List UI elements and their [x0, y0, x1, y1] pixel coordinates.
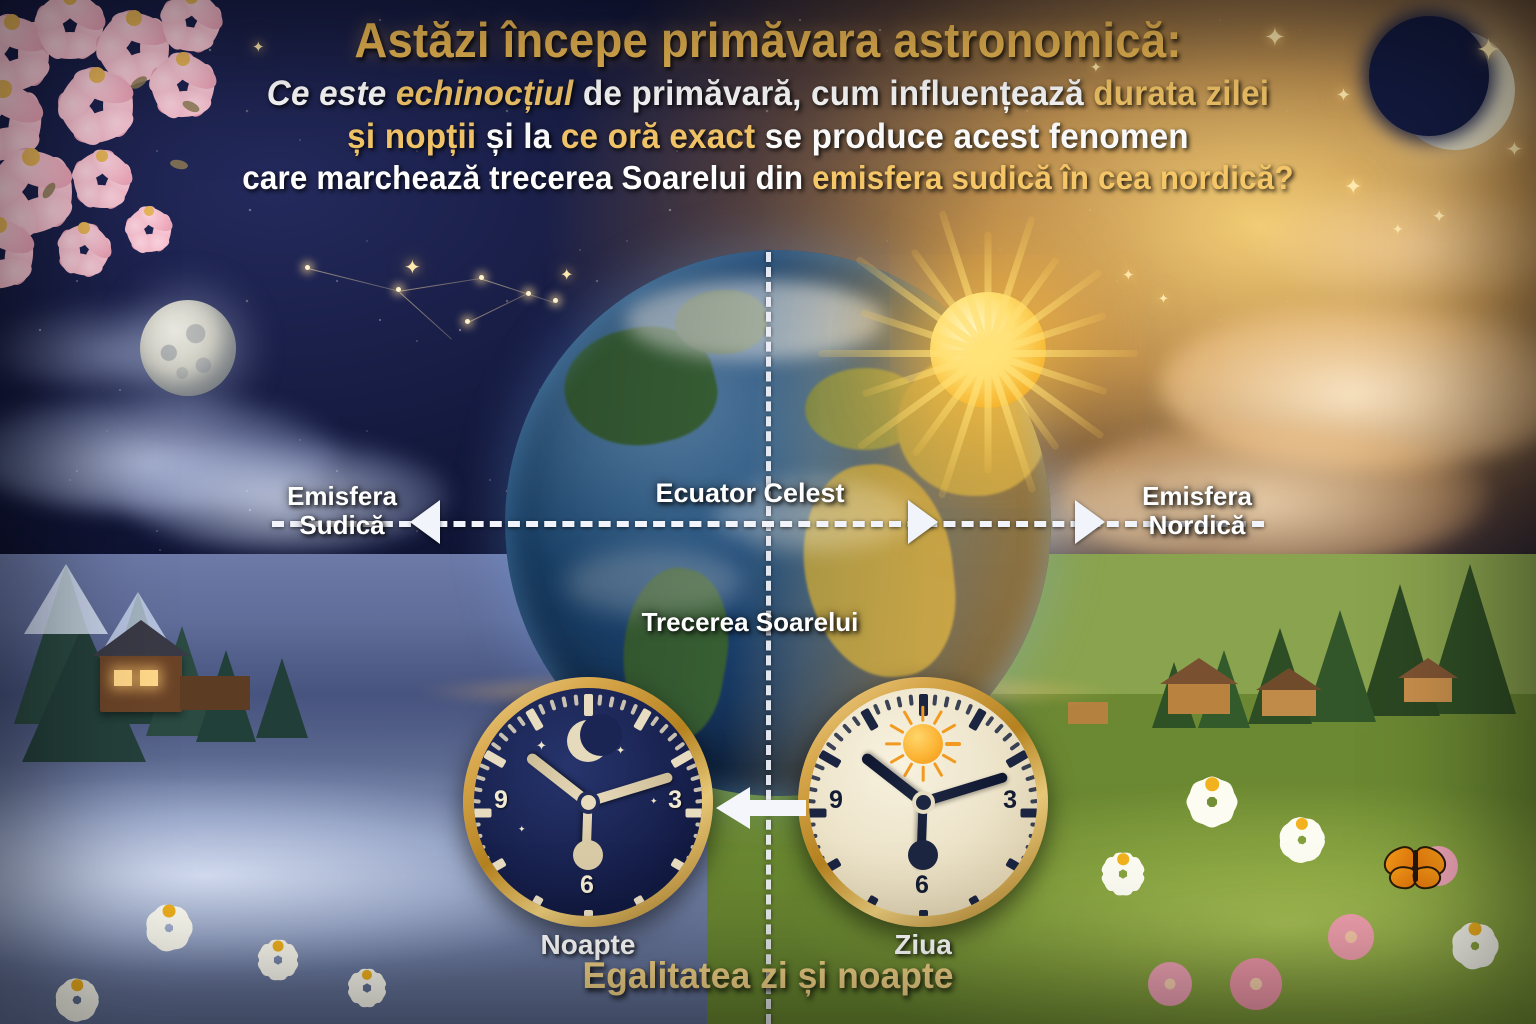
subtitle-highlight: echinocțiul: [396, 74, 574, 113]
cherry-blossom: [42, 0, 98, 26]
label-northern-hemisphere: Emisfera Nordică: [1112, 482, 1282, 540]
equinox-infographic: ✦ ✦ ✦ ✦ ✦ ✦ ✦ ✦ ✦ ✦ ✦ ✦ ✦: [0, 0, 1536, 1024]
cherry-blossom-cluster: [0, 0, 270, 270]
subtitle-text: Ce este: [267, 74, 396, 113]
label-sun-passage: Trecerea Soarelui: [580, 608, 920, 637]
star-icon: ✦: [536, 738, 547, 754]
subdial: [573, 840, 603, 870]
arrow-north-icon: [1075, 500, 1105, 544]
clock-night: ✦ ✦ ✦ ✦ 9 3 6 Noapte: [463, 677, 713, 927]
cabin-roof: [92, 620, 190, 656]
arrow-head: [716, 787, 750, 829]
leaf-icon: [169, 157, 189, 171]
subtitle-highlight: ce oră exact: [561, 117, 756, 156]
label-southern-hemisphere: Emisfera Sudică: [262, 482, 422, 540]
village-house: [1068, 702, 1108, 724]
sun-icon: [903, 724, 943, 764]
daisy-flower: [1284, 806, 1320, 842]
cabin-annex: [180, 676, 250, 710]
subtitle-highlight: durata zilei: [1093, 74, 1269, 113]
subdial: [908, 840, 938, 870]
star-icon: ✦: [616, 744, 625, 757]
cherry-blossom: [156, 32, 210, 86]
clock-number-9: 9: [494, 786, 508, 815]
butterfly-icon: [1383, 846, 1447, 890]
left-arrow-icon: [716, 787, 806, 829]
butterfly-body: [1413, 850, 1418, 882]
cherry-blossom: [0, 56, 36, 122]
clock-center-pin: [577, 791, 600, 814]
pine-tree: [256, 658, 308, 738]
village-roof: [1256, 668, 1322, 690]
arrow-north-mid-icon: [908, 500, 938, 544]
minute-hand: [922, 771, 1009, 806]
cherry-blossom: [166, 0, 216, 22]
cabin-window: [114, 670, 132, 686]
clock-dial-day: 9 3 6: [798, 677, 1048, 927]
village-house: [1168, 682, 1230, 714]
full-moon-icon: [140, 300, 236, 396]
cherry-blossom: [104, 0, 164, 48]
village-house: [1262, 688, 1316, 716]
village-house: [1404, 676, 1452, 702]
cherry-blossom: [0, 196, 28, 254]
subtitle-text: de primăvară, cum influențează: [573, 74, 1093, 113]
cherry-blossom: [130, 192, 168, 230]
subtitle-highlight: și nopții: [347, 117, 476, 156]
clock-number-9: 9: [829, 786, 843, 815]
daisy-flower: [1106, 842, 1140, 876]
clock-bezel: 9 3 6: [798, 677, 1048, 927]
cherry-blossom: [0, 122, 66, 192]
arrow-shaft: [750, 800, 806, 816]
moon-icon: [567, 720, 609, 762]
village-roof: [1398, 658, 1458, 678]
label-celestial-equator: Ecuator Celest: [600, 478, 900, 508]
clock-number-6: 6: [915, 871, 929, 900]
pink-flower: [1328, 914, 1374, 960]
subtitle-text: și la: [476, 117, 561, 156]
clock-face-night: ✦ ✦ ✦ ✦ 9 3 6: [474, 688, 702, 916]
daisy-flower: [1192, 764, 1232, 804]
cherry-blossom: [78, 132, 126, 180]
daisy-flower: [1456, 910, 1494, 948]
daisy-flower: [150, 892, 188, 930]
clock-number-3: 3: [1003, 786, 1017, 815]
clock-bezel: ✦ ✦ ✦ ✦ 9 3 6: [463, 677, 713, 927]
clock-number-6: 6: [580, 871, 594, 900]
star-icon: ✦: [518, 824, 526, 835]
clock-number-3: 3: [668, 786, 682, 815]
cherry-blossom: [62, 206, 106, 250]
cabin-window: [140, 670, 158, 686]
clock-center-pin: [912, 791, 935, 814]
village-roof: [1160, 658, 1238, 684]
bottom-caption: Egalitatea zi și noapte: [31, 955, 1506, 997]
subtitle-highlight: emisfera sudică în cea nordică?: [812, 159, 1294, 196]
cherry-blossom: [66, 44, 128, 106]
subtitle-text: se produce acest fenomen: [755, 117, 1188, 156]
star-icon: ✦: [650, 796, 658, 807]
subtitle-text: care marchează trecerea Soarelui din: [242, 159, 812, 196]
sun-passage-line: [766, 252, 771, 1024]
minute-hand: [587, 771, 674, 806]
clock-face-day: 9 3 6: [809, 688, 1037, 916]
clock-dial-night: ✦ ✦ ✦ ✦ 9 3 6: [463, 677, 713, 927]
clock-day: 9 3 6 Ziua: [798, 677, 1048, 927]
